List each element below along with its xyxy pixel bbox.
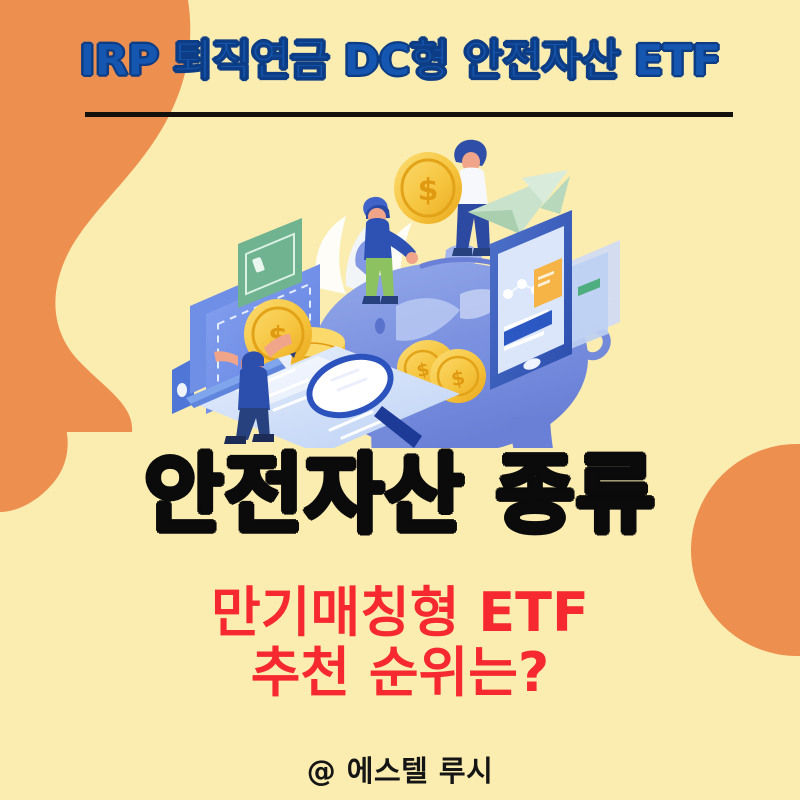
svg-text:$: $ bbox=[418, 173, 439, 208]
subheadline-line-2: 추천 순위는? bbox=[0, 643, 800, 703]
headline-text: 안전자산 종류 bbox=[0, 450, 800, 540]
subheadline-block: 만기매칭형 ETF 추천 순위는? bbox=[0, 583, 800, 704]
savings-illustration: $ $ bbox=[160, 118, 640, 448]
gold-coin-large: $ bbox=[394, 152, 462, 224]
author-credit: @ 에스텔 루시 bbox=[0, 748, 800, 790]
title-divider-rule bbox=[85, 112, 733, 117]
subheadline-line-1: 만기매칭형 ETF bbox=[0, 583, 800, 643]
title-container: IRP 퇴직연금 DC형 안전자산 ETF bbox=[0, 24, 800, 98]
page-title: IRP 퇴직연금 DC형 안전자산 ETF bbox=[79, 40, 720, 83]
poster-canvas: IRP 퇴직연금 DC형 안전자산 ETF bbox=[0, 0, 800, 800]
